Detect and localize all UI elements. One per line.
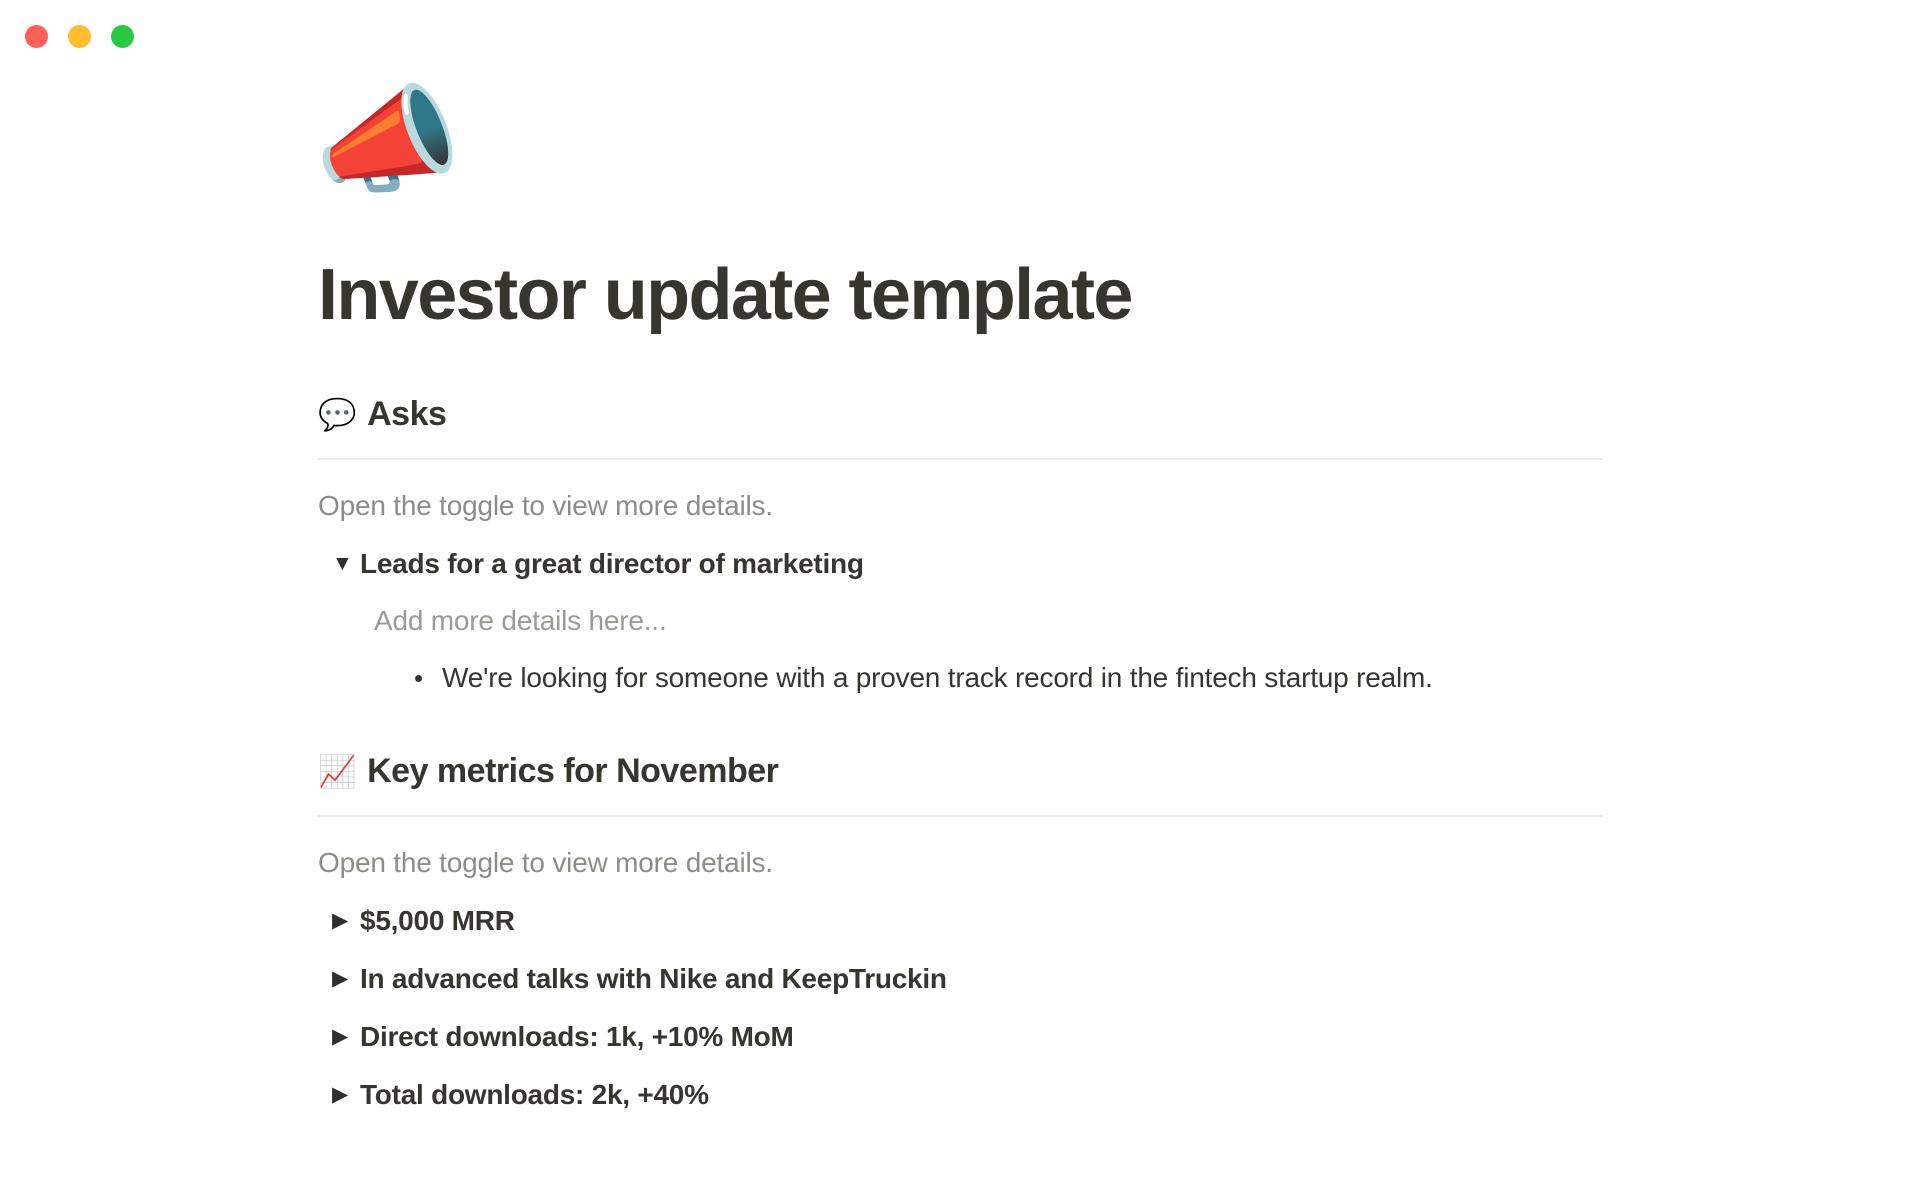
minimize-button[interactable] — [68, 25, 91, 48]
section-divider — [318, 458, 1603, 460]
toggle-label: In advanced talks with Nike and KeepTruc… — [360, 958, 947, 1000]
toggle-placeholder-text[interactable]: Add more details here... — [374, 601, 1608, 640]
section-heading-text: Key metrics for November — [367, 750, 778, 793]
section-hint-text: Open the toggle to view more details. — [318, 843, 1608, 882]
section-heading-key-metrics[interactable]: 📈 Key metrics for November — [318, 750, 1608, 793]
section-hint-text: Open the toggle to view more details. — [318, 486, 1608, 525]
page-title[interactable]: Investor update template — [318, 256, 1608, 335]
toggle-block[interactable]: ▶ Direct downloads: 1k, +10% MoM — [318, 1016, 1608, 1058]
toggle-list-asks: ▼ Leads for a great director of marketin… — [318, 543, 1608, 698]
section-key-metrics: 📈 Key metrics for November Open the togg… — [318, 750, 1608, 1116]
toggle-label: Direct downloads: 1k, +10% MoM — [360, 1016, 794, 1058]
list-item[interactable]: • We're looking for someone with a prove… — [374, 658, 1608, 698]
toggle-label: Total downloads: 2k, +40% — [360, 1074, 709, 1116]
toggle-label: $5,000 MRR — [360, 900, 515, 942]
chevron-down-icon[interactable]: ▼ — [332, 543, 360, 585]
chevron-right-icon[interactable]: ▶ — [332, 1074, 360, 1116]
toggle-block[interactable]: ▶ In advanced talks with Nike and KeepTr… — [318, 958, 1608, 1000]
list-item-text: We're looking for someone with a proven … — [442, 658, 1433, 698]
chevron-right-icon[interactable]: ▶ — [332, 900, 360, 942]
toggle-block[interactable]: ▶ Total downloads: 2k, +40% — [318, 1074, 1608, 1116]
section-asks: 💬 Asks Open the toggle to view more deta… — [318, 393, 1608, 698]
traffic-light-group — [25, 25, 134, 48]
close-button[interactable] — [25, 25, 48, 48]
toggle-block[interactable]: ▶ $5,000 MRR — [318, 900, 1608, 942]
bullet-icon: • — [414, 658, 442, 698]
speech-balloon-emoji: 💬 — [318, 399, 356, 430]
section-heading-asks[interactable]: 💬 Asks — [318, 393, 1608, 436]
chevron-right-icon[interactable]: ▶ — [332, 958, 360, 1000]
maximize-button[interactable] — [111, 25, 134, 48]
section-divider — [318, 815, 1603, 817]
megaphone-emoji[interactable]: 📣 — [314, 82, 1608, 222]
document-body: 📣 Investor update template 💬 Asks Open t… — [318, 0, 1608, 1116]
chevron-right-icon[interactable]: ▶ — [332, 1016, 360, 1058]
toggle-block[interactable]: ▼ Leads for a great director of marketin… — [318, 543, 1608, 585]
toggle-children: Add more details here... • We're looking… — [318, 601, 1608, 698]
toggle-label: Leads for a great director of marketing — [360, 543, 864, 585]
chart-increasing-emoji: 📈 — [318, 756, 356, 787]
section-heading-text: Asks — [367, 393, 446, 436]
toggle-list-key-metrics: ▶ $5,000 MRR ▶ In advanced talks with Ni… — [318, 900, 1608, 1116]
